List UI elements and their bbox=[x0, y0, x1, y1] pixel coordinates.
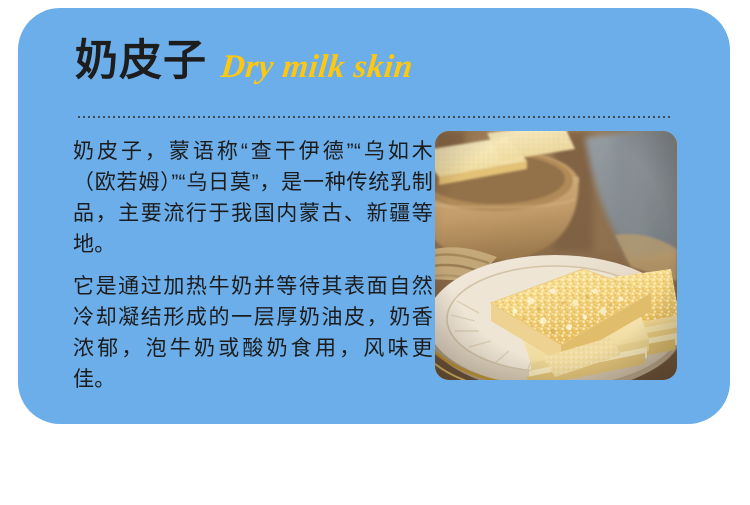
description-paragraph-1: 奶皮子，蒙语称“查干伊德”“乌如木（欧若姆）”“乌日莫”，是一种传统乳制品，主要… bbox=[73, 136, 433, 260]
description-body: 奶皮子，蒙语称“查干伊德”“乌如木（欧若姆）”“乌日莫”，是一种传统乳制品，主要… bbox=[73, 136, 433, 395]
dotted-divider bbox=[78, 116, 672, 118]
product-info-card: 奶皮子 Dry milk skin 奶皮子，蒙语称“查干伊德”“乌如木（欧若姆）… bbox=[18, 8, 730, 424]
page-title: 奶皮子 bbox=[75, 40, 207, 83]
page-subtitle-english: Dry milk skin bbox=[219, 51, 414, 84]
card-header: 奶皮子 Dry milk skin bbox=[75, 40, 413, 100]
description-paragraph-2: 它是通过加热牛奶并等待其表面自然冷却凝结形成的一层厚奶油皮，奶香浓郁，泡牛奶或酸… bbox=[73, 271, 433, 395]
product-photo-milk-skin-crisps bbox=[435, 131, 677, 380]
